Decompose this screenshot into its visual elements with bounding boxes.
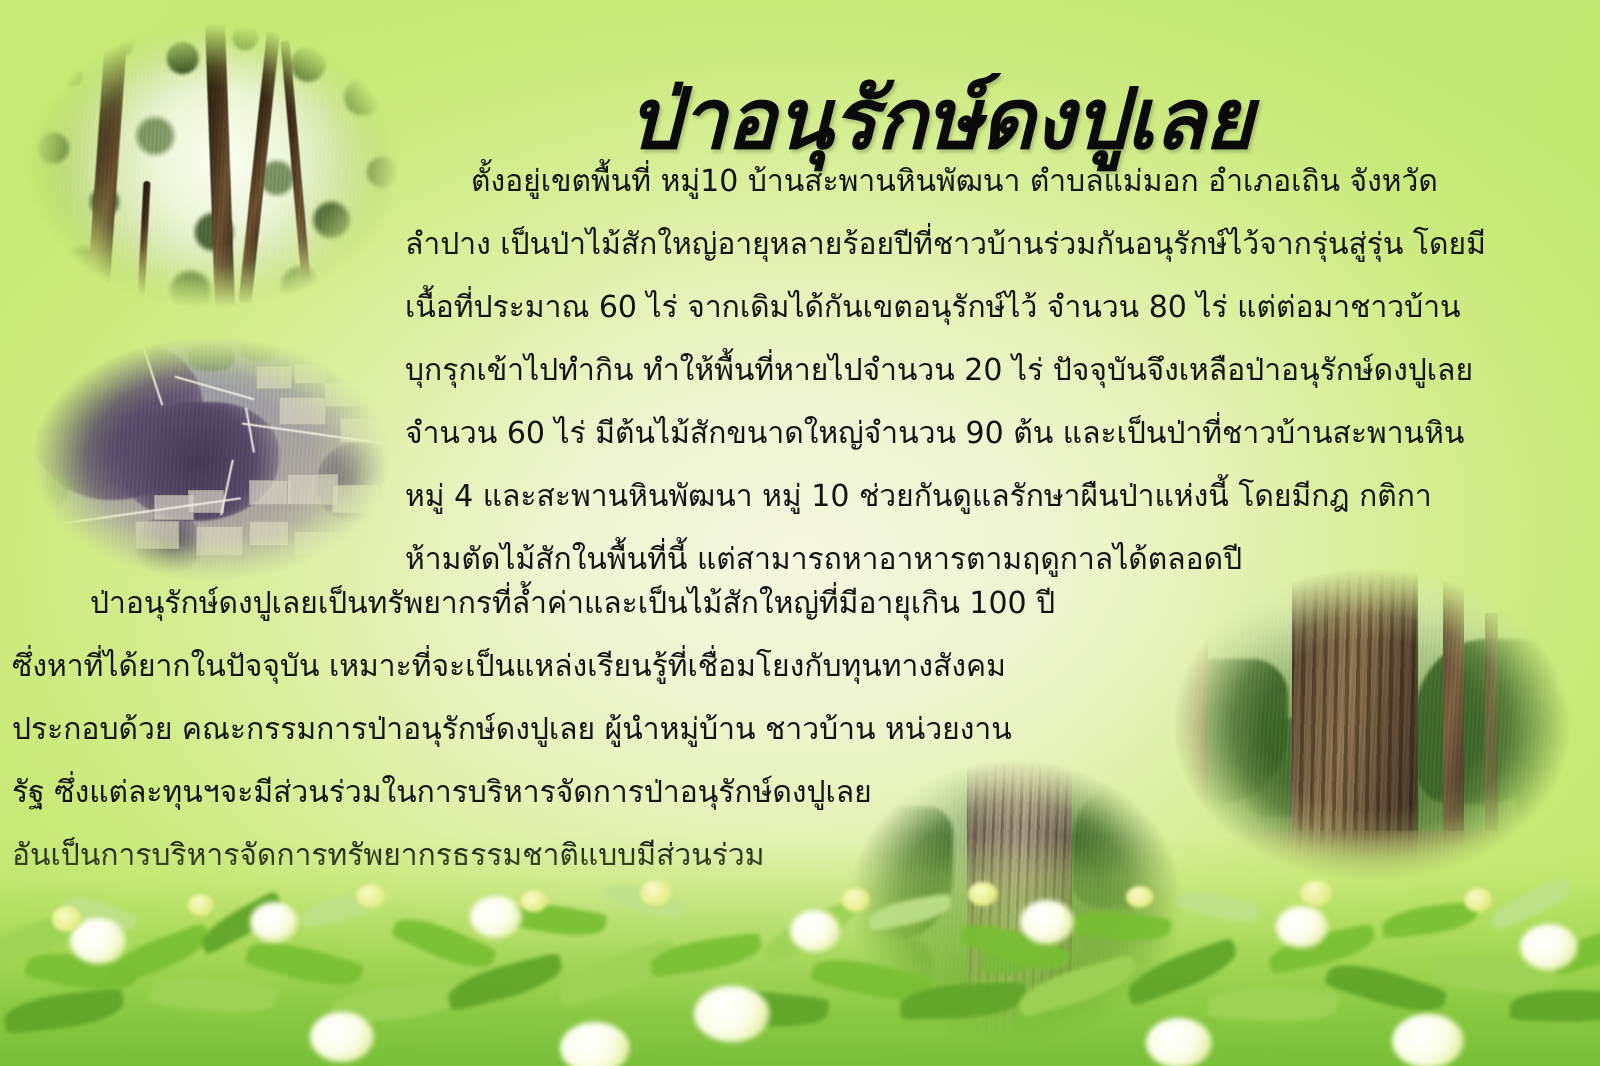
photo-giant-teak-with-people: [1162, 560, 1582, 890]
second-line-1: ป่าอนุรักษ์ดงปูเลยเป็นทรัพยากรที่ล้ำค่าแ…: [12, 572, 1132, 635]
main-line-4: บุกรุกเข้าไปทำกิน ทำให้พื้นที่หายไปจำนวน…: [405, 339, 1590, 402]
main-line-3: เนื้อที่ประมาณ 60 ไร่ จากเดิมได้กันเขตอน…: [405, 276, 1590, 339]
main-paragraph: ตั้งอยู่เขตพื้นที่ หมู่10 บ้านสะพานหินพั…: [405, 150, 1590, 591]
main-line-5: จำนวน 60 ไร่ มีต้นไม้สักขนาดใหญ่จำนวน 90…: [405, 402, 1590, 465]
main-line-1: ตั้งอยู่เขตพื้นที่ หมู่10 บ้านสะพานหินพั…: [405, 150, 1590, 213]
poster-canvas: ป่าอนุรักษ์ดงปูเลย ตั้งอยู่เขตพื้นที่ หม…: [0, 0, 1600, 1066]
photo-measuring-trunk: [840, 752, 1192, 1052]
photo-forest-canopy: [18, 16, 410, 316]
main-line-2: ลำปาง เป็นป่าไม้สักใหญ่อายุหลายร้อยปีที่…: [405, 213, 1590, 276]
second-line-2: ซึ่งหาที่ได้ยากในปัจจุบัน เหมาะที่จะเป็น…: [12, 635, 1132, 698]
main-line-6: หมู่ 4 และสะพานหินพัฒนา หมู่ 10 ช่วยกันด…: [405, 465, 1590, 528]
photo-aerial-satellite-map: [22, 330, 400, 588]
